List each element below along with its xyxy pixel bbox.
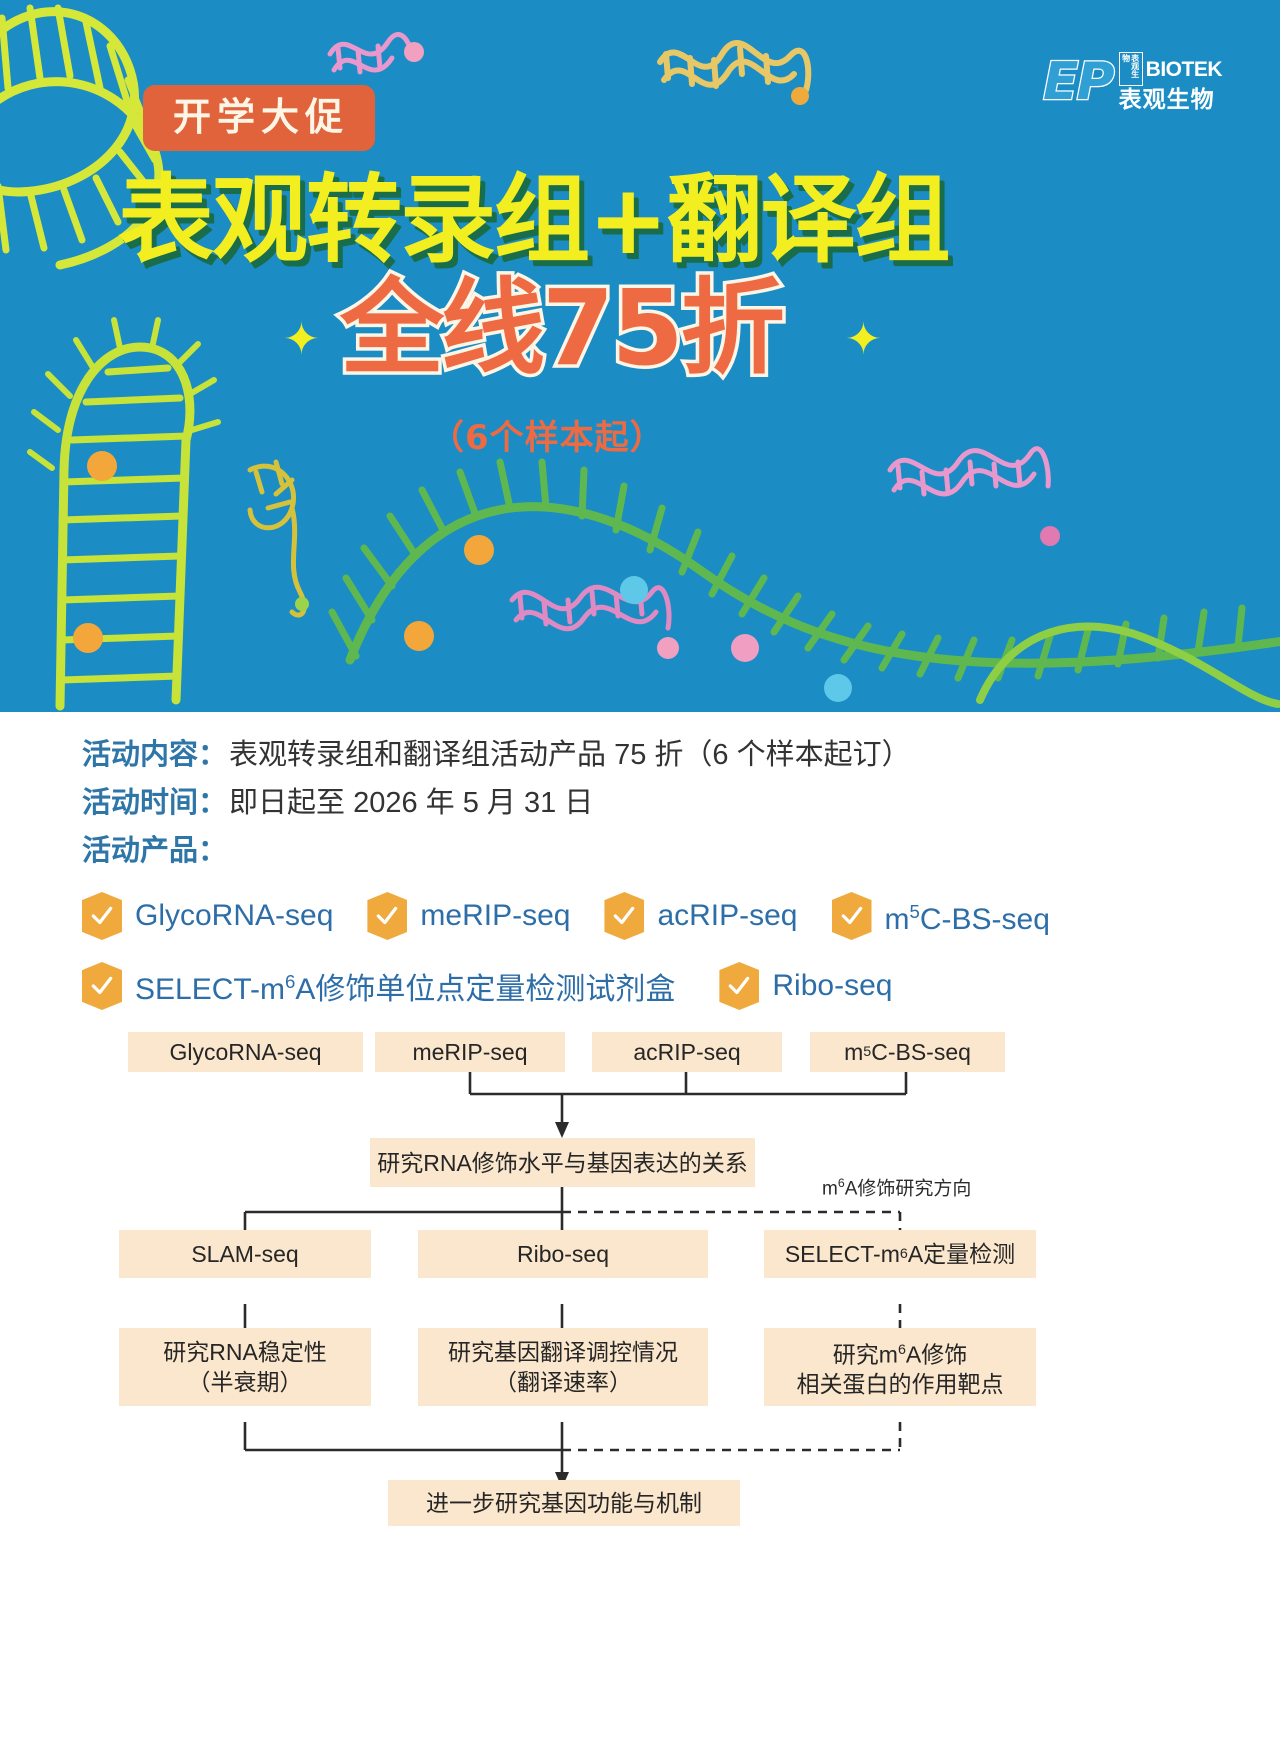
flow-box-target: 研究m6A修饰 相关蛋白的作用靶点: [764, 1328, 1036, 1406]
product-item-ribo[interactable]: Ribo-seq: [719, 962, 892, 1010]
product-label-m5cbs: m5C-BS-seq: [885, 895, 1050, 937]
dot-orange: [464, 535, 494, 565]
flow-box-relationship: 研究RNA修饰水平与基因表达的关系: [370, 1138, 755, 1187]
product-item-select[interactable]: SELECT-m6A修饰单位点定量检测试剂盒: [82, 962, 675, 1010]
logo-right-block: 表观生物 BIOTEK 表观生物: [1119, 52, 1222, 111]
flow-box-ribo: Ribo-seq: [418, 1230, 708, 1278]
poster-page: EP 表观生物 BIOTEK 表观生物 开学大促 表观转录组+翻译组 ✦ ✦ 全…: [0, 0, 1280, 1737]
flow-box-glycorna: GlycoRNA-seq: [128, 1032, 363, 1072]
product-label-merip: meRIP-seq: [420, 899, 570, 933]
dot-pink: [731, 634, 759, 662]
product-row-1: GlycoRNA-seq meRIP-seq acRIP-seq m5C-BS-…: [82, 892, 1280, 940]
product-label-glycorna: GlycoRNA-seq: [135, 899, 333, 933]
product-label-acrip: acRIP-seq: [657, 899, 797, 933]
flow-box-m5cbs: m5C-BS-seq: [810, 1032, 1005, 1072]
info-label-content: 活动内容：: [82, 732, 227, 778]
info-line-products: 活动产品：: [82, 826, 1280, 874]
product-item-merip[interactable]: meRIP-seq: [367, 892, 570, 940]
promo-badge: 开学大促: [143, 85, 375, 151]
flow-box-translation: 研究基因翻译调控情况 （翻译速率）: [418, 1328, 708, 1406]
dot-orange: [87, 451, 117, 481]
dot-blue: [824, 674, 852, 702]
product-label-ribo: Ribo-seq: [772, 969, 892, 1003]
dot-yellow: [791, 87, 809, 105]
info-line-period: 活动时间： 即日起至 2026 年 5 月 31 日: [82, 778, 1280, 826]
logo-seal-mark: 表观生物: [1119, 52, 1143, 86]
flow-box-acrip: acRIP-seq: [592, 1032, 782, 1072]
flow-box-merip: meRIP-seq: [375, 1032, 565, 1072]
logo-biotek-row: 表观生物 BIOTEK: [1119, 52, 1222, 86]
product-item-m5cbs[interactable]: m5C-BS-seq: [832, 892, 1050, 940]
check-icon: [832, 892, 872, 940]
flow-box-select: SELECT-m6A定量检测: [764, 1230, 1036, 1278]
info-value-content: 表观转录组和翻译组活动产品 75 折（6 个样本起订）: [229, 732, 911, 778]
logo-ep-text: EP: [1043, 56, 1113, 108]
dot-pink: [1040, 526, 1060, 546]
info-label-products: 活动产品：: [82, 828, 227, 874]
product-item-acrip[interactable]: acRIP-seq: [604, 892, 797, 940]
check-icon: [82, 892, 122, 940]
check-icon: [719, 962, 759, 1010]
brand-logo[interactable]: EP 表观生物 BIOTEK 表观生物: [1043, 52, 1222, 111]
check-icon: [604, 892, 644, 940]
info-label-period: 活动时间：: [82, 780, 227, 826]
hero-title-note: （6个样本起）: [430, 418, 665, 458]
sparkle-right-icon: ✦: [845, 318, 882, 362]
hero-title-main: 表观转录组+翻译组: [118, 168, 948, 272]
info-line-content: 活动内容： 表观转录组和翻译组活动产品 75 折（6 个样本起订）: [82, 712, 1280, 778]
info-section: 活动内容： 表观转录组和翻译组活动产品 75 折（6 个样本起订） 活动时间： …: [0, 712, 1280, 1010]
check-icon: [367, 892, 407, 940]
info-value-period: 即日起至 2026 年 5 月 31 日: [229, 780, 593, 826]
dot-blue: [620, 576, 648, 604]
check-icon: [82, 962, 122, 1010]
logo-cn-text: 表观生物: [1119, 87, 1222, 111]
dot-green: [295, 597, 309, 611]
hero-title-discount: 全线75折: [340, 272, 782, 384]
product-label-select: SELECT-m6A修饰单位点定量检测试剂盒: [135, 965, 675, 1007]
logo-biotek-text: BIOTEK: [1146, 59, 1222, 80]
hero-banner: EP 表观生物 BIOTEK 表观生物 开学大促 表观转录组+翻译组 ✦ ✦ 全…: [0, 0, 1280, 712]
dot-orange: [404, 621, 434, 651]
flow-box-final: 进一步研究基因功能与机制: [388, 1480, 740, 1526]
product-item-glycorna[interactable]: GlycoRNA-seq: [82, 892, 333, 940]
dot-pink: [657, 637, 679, 659]
dot-pink: [404, 42, 424, 62]
flow-box-slam: SLAM-seq: [119, 1230, 371, 1278]
flow-box-stability: 研究RNA稳定性 （半衰期）: [119, 1328, 371, 1406]
product-row-2: SELECT-m6A修饰单位点定量检测试剂盒 Ribo-seq: [82, 962, 1280, 1010]
dot-orange: [73, 623, 103, 653]
workflow-diagram: GlycoRNA-seq meRIP-seq acRIP-seq m5C-BS-…: [0, 1022, 1280, 1737]
sparkle-left-icon: ✦: [283, 318, 320, 362]
flow-note-m6a-direction: m6A修饰研究方向: [822, 1172, 971, 1200]
